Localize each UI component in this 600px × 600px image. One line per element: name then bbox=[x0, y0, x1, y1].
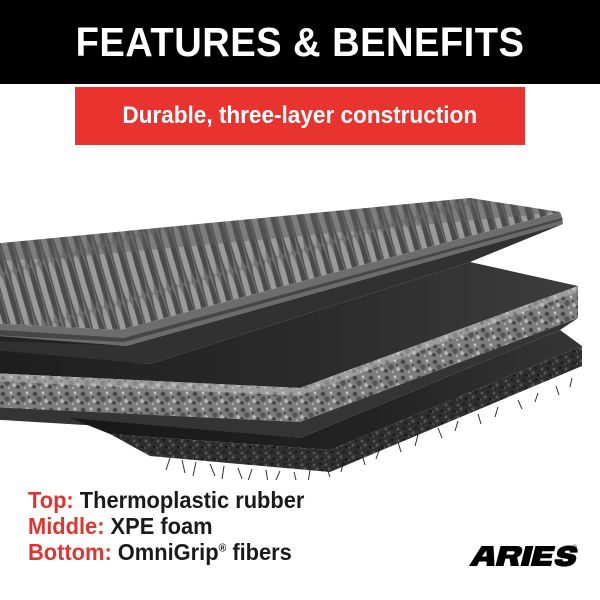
aries-logo: ® bbox=[462, 540, 580, 574]
spec-value-top: Thermoplastic rubber bbox=[80, 487, 305, 513]
feature-benefits-card: FEATURES & BENEFITS Durable, three-layer… bbox=[0, 0, 600, 600]
spec-value-bottom-suffix: fibers bbox=[226, 539, 292, 565]
spec-label-bottom: Bottom: bbox=[28, 539, 112, 565]
three-layer-mat-illustration bbox=[0, 150, 600, 480]
spec-row-bottom: Bottom: OmniGrip® fibers bbox=[28, 539, 437, 565]
spec-value-bottom: OmniGrip bbox=[118, 539, 219, 565]
spec-row-top: Top: Thermoplastic rubber bbox=[28, 487, 437, 513]
page-title: FEATURES & BENEFITS bbox=[21, 0, 579, 84]
subtitle-band: Durable, three-layer construction bbox=[75, 87, 525, 145]
aries-wordmark-icon: ® bbox=[462, 540, 580, 574]
spec-label-middle: Middle: bbox=[28, 513, 104, 539]
subtitle-text: Durable, three-layer construction bbox=[123, 102, 478, 130]
product-image bbox=[0, 150, 600, 480]
spec-list: Top: Thermoplastic rubber Middle: XPE fo… bbox=[28, 487, 458, 565]
spec-value-middle: XPE foam bbox=[111, 513, 213, 539]
registered-mark-icon: ® bbox=[219, 542, 227, 554]
spec-row-middle: Middle: XPE foam bbox=[28, 513, 437, 539]
header-bar: FEATURES & BENEFITS bbox=[0, 0, 600, 84]
spec-label-top: Top: bbox=[28, 487, 74, 513]
aries-registered-mark-icon: ® bbox=[572, 544, 578, 552]
